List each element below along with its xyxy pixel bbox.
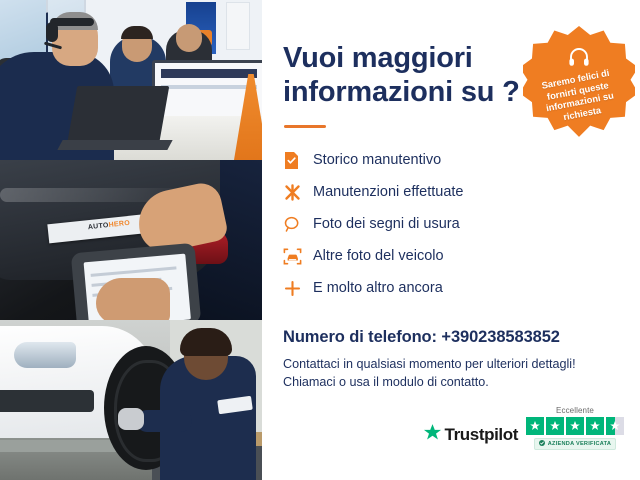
trustpilot-widget[interactable]: Trustpilot Eccellente bbox=[423, 406, 624, 450]
list-item-label: Altre foto del veicolo bbox=[313, 248, 444, 264]
magnifier-icon bbox=[283, 215, 313, 234]
contact-subtext-line-1: Contattaci in qualsiasi momento per ulte… bbox=[283, 357, 576, 371]
wrench-tools-icon bbox=[283, 183, 313, 202]
trustpilot-rating: Eccellente bbox=[526, 406, 624, 450]
car-scan-icon bbox=[283, 247, 313, 266]
contact-subtext: Contattaci in qualsiasi momento per ulte… bbox=[283, 356, 618, 392]
document-check-icon bbox=[283, 151, 313, 170]
laptop-base bbox=[57, 140, 172, 150]
list-item: Storico manutentivo bbox=[283, 146, 618, 174]
car-grille bbox=[0, 390, 94, 412]
photo-column: AUTOHERO bbox=[0, 0, 262, 480]
content-panel: Vuoi maggiori informazioni su ? Storico … bbox=[262, 0, 640, 480]
verified-check-icon bbox=[539, 440, 545, 448]
star-half bbox=[606, 417, 624, 435]
info-banner: AUTOHERO Vuoi maggiori bbox=[0, 0, 640, 480]
phone-number[interactable]: Numero di telefono: +390238583852 bbox=[283, 328, 618, 347]
star-filled bbox=[546, 417, 564, 435]
star-rating bbox=[526, 417, 624, 435]
star-filled bbox=[566, 417, 584, 435]
technician-hair bbox=[180, 328, 232, 356]
title-line-1: Vuoi maggiori bbox=[283, 42, 473, 74]
person-back-head bbox=[176, 24, 202, 52]
headset-icon bbox=[567, 46, 591, 73]
agent-headset-cup bbox=[46, 22, 58, 42]
list-item-label: Manutenzioni effettuate bbox=[313, 184, 463, 200]
list-item: Foto dei segni di usura bbox=[283, 210, 618, 238]
trustpilot-star-icon bbox=[423, 423, 442, 447]
verified-label: AZIENDA VERIFICATA bbox=[548, 441, 611, 447]
title-line-2: informazioni su ? bbox=[283, 76, 520, 108]
trustpilot-wordmark: Trustpilot bbox=[445, 425, 518, 445]
person-middle-hair bbox=[121, 26, 153, 39]
rating-label: Eccellente bbox=[556, 406, 594, 415]
list-item: Manutenzioni effettuate bbox=[283, 178, 618, 206]
list-item: E molto altro ancora bbox=[283, 274, 618, 302]
trustpilot-logo: Trustpilot bbox=[423, 423, 518, 447]
list-item-label: Foto dei segni di usura bbox=[313, 216, 460, 232]
list-item: Altre foto del veicolo bbox=[283, 242, 618, 270]
technician-glove bbox=[118, 408, 144, 430]
star-filled bbox=[526, 417, 544, 435]
vehicle-inspection-photo: AUTOHERO bbox=[0, 160, 262, 320]
feature-list: Storico manutentivo Manutenzioni effettu… bbox=[283, 146, 618, 302]
verified-company-badge: AZIENDA VERIFICATA bbox=[534, 438, 616, 450]
list-item-label: E molto altro ancora bbox=[313, 280, 443, 296]
title-underline bbox=[284, 125, 326, 128]
contact-subtext-line-2: Chiamaci o usa il modulo di contatto. bbox=[283, 375, 489, 389]
inspector-hand-lower bbox=[96, 278, 170, 320]
workshop-photo bbox=[0, 320, 262, 480]
plus-icon bbox=[283, 279, 313, 298]
laptop-screen bbox=[67, 86, 170, 146]
car-headlight bbox=[14, 342, 76, 368]
wall-notice bbox=[226, 2, 250, 50]
call-center-photo bbox=[0, 0, 262, 160]
technician-arm bbox=[136, 410, 192, 432]
callout-badge: Saremo felici di fornirti queste informa… bbox=[523, 26, 635, 138]
star-filled bbox=[586, 417, 604, 435]
list-item-label: Storico manutentivo bbox=[313, 152, 441, 168]
